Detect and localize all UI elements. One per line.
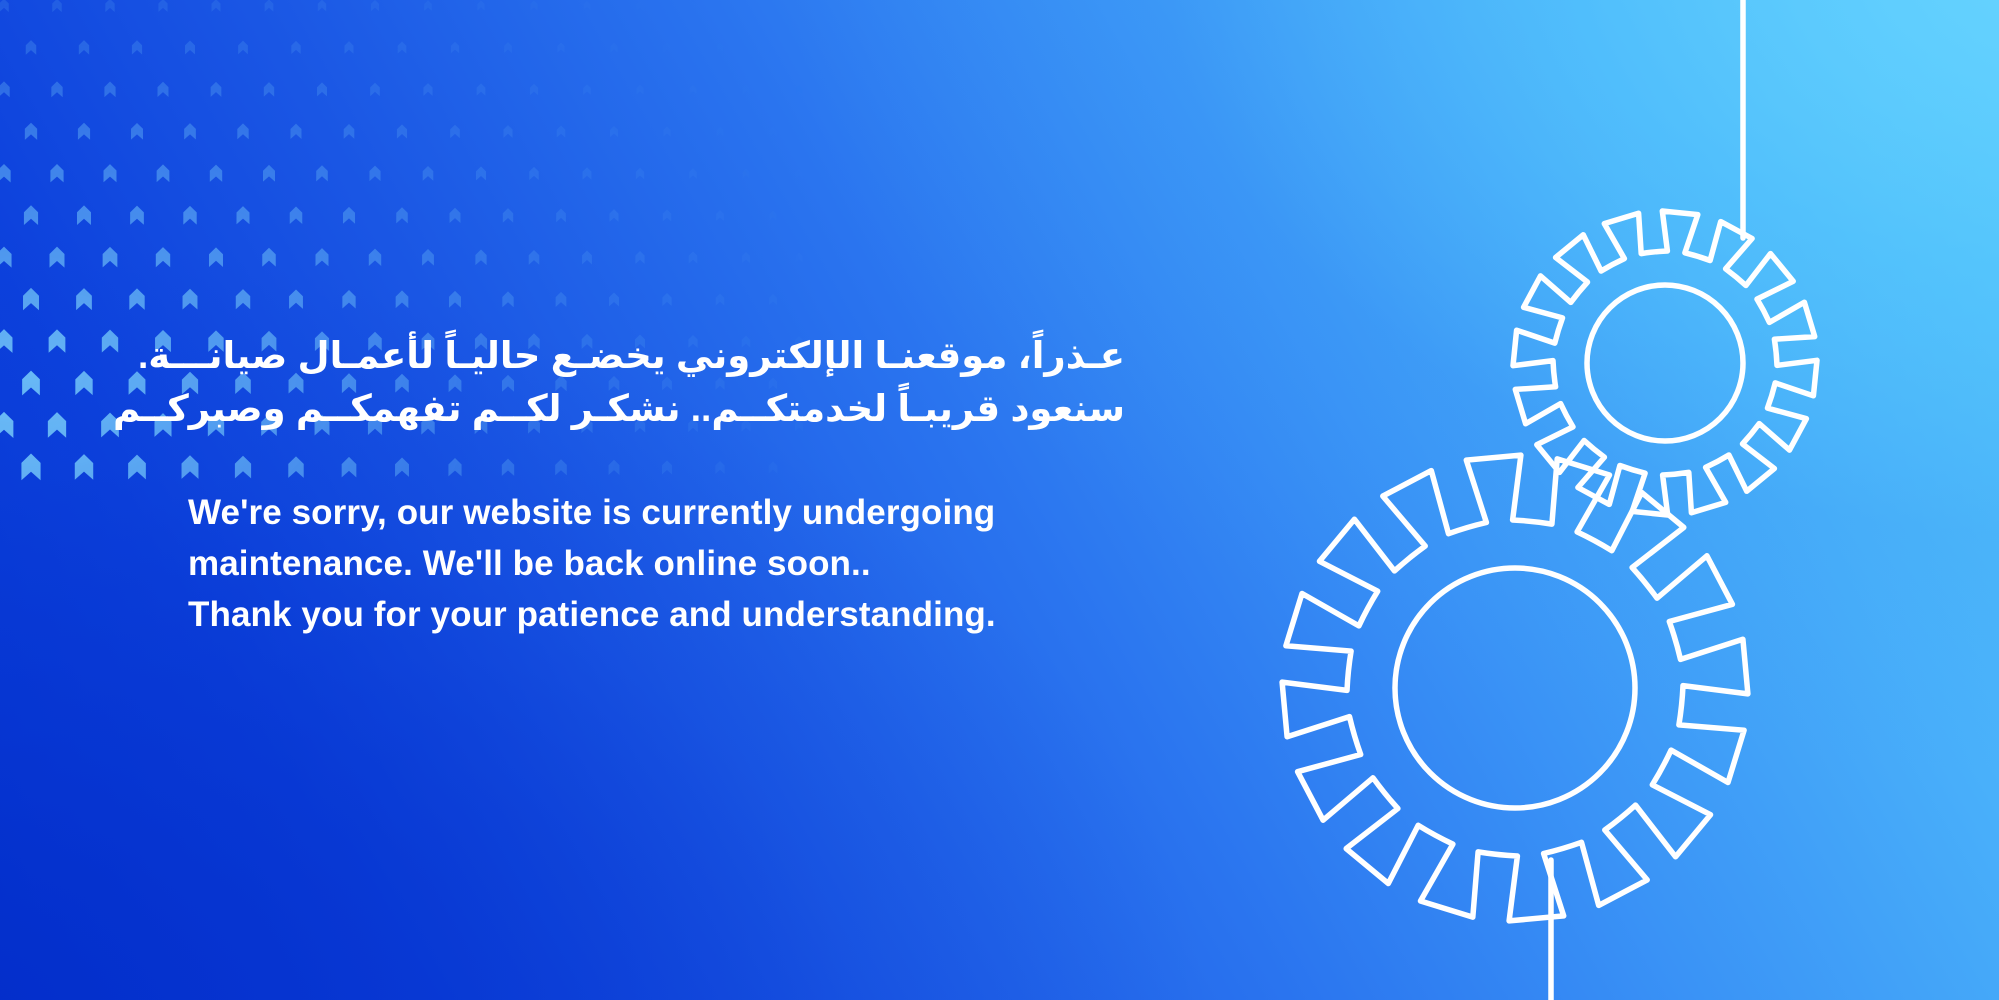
english-line-2: maintenance. We'll be back online soon..	[188, 538, 1138, 589]
maintenance-message: عـذراً، موقعنـا الإلكتروني يخضـع حاليـاً…	[188, 330, 1138, 640]
english-line-3: Thank you for your patience and understa…	[188, 589, 1138, 640]
arabic-line-2: سنعود قريبـاً لخدمتكــم.. نشكـر لكــم تف…	[188, 383, 1125, 436]
maintenance-page: عـذراً، موقعنـا الإلكتروني يخضـع حاليـاً…	[0, 0, 1999, 1000]
english-message: We're sorry, our website is currently un…	[188, 435, 1138, 640]
english-line-1: We're sorry, our website is currently un…	[188, 487, 1138, 538]
arabic-message: عـذراً، موقعنـا الإلكتروني يخضـع حاليـاً…	[188, 330, 1125, 435]
arabic-line-1: عـذراً، موقعنـا الإلكتروني يخضـع حاليـاً…	[188, 330, 1125, 383]
